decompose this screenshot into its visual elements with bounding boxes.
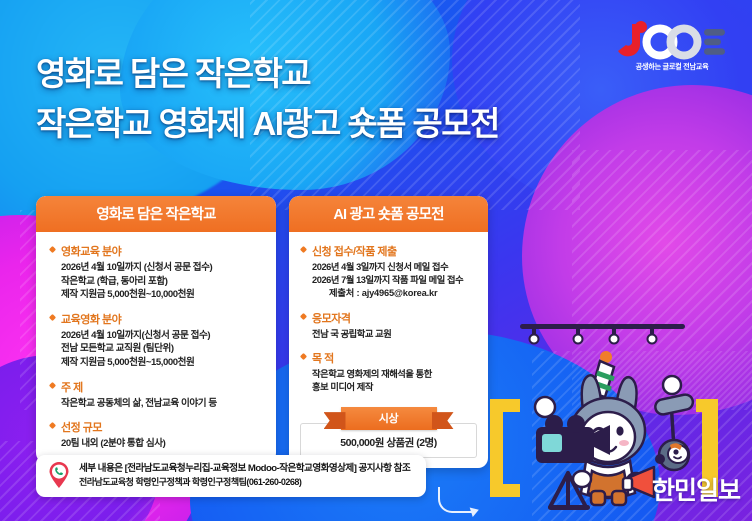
section-lines: 2026년 4월 3일까지 신청서 메일 접수 2026년 7월 13일까지 작…: [300, 261, 477, 301]
jne-logo-mark: [616, 20, 728, 60]
section-line: 작은학교 영화제의 재해석을 통한: [312, 368, 477, 381]
section-lines: 2026년 4월 10일까지(신청서 공문 접수) 전남 모든학교 교직원 (팀…: [49, 329, 263, 370]
section-line: 작은학교 공동체의 삶, 전남교육 이야기 등: [61, 397, 263, 411]
poster-title-block: 영화로 담은 작은학교 작은학교 영화제 AI광고 숏폼 공모전: [36, 56, 499, 143]
section-line: 작은학교 (학급, 동아리 포함): [61, 275, 263, 289]
section-title: 목 적: [300, 350, 477, 366]
section-application-submission: 신청 접수/작품 제출 2026년 4월 3일까지 신청서 메일 접수 2026…: [300, 243, 477, 301]
section-line: 2026년 4월 10일까지(신청서 공문 접수): [61, 329, 263, 343]
poster-canvas: 공생하는 글로컬 전남교육 영화로 담은 작은학교 작은학교 영화제 AI광고 …: [0, 0, 752, 521]
section-line: 2026년 4월 10일까지 (신청서 공문 접수): [61, 261, 263, 275]
lighting-truss-icon: [520, 324, 685, 344]
section-title: 교육영화 분야: [49, 311, 263, 327]
section-line: 2026년 7월 13일까지 작품 파일 메일 접수: [312, 274, 477, 287]
card-left-body: 영화교육 분야 2026년 4월 10일까지 (신청서 공문 접수) 작은학교 …: [36, 232, 276, 463]
section-lines: 작은학교 영화제의 재해석을 통한 홍보 미디어 제작: [300, 368, 477, 394]
footer-line1: 세부 내용은 [전라남도교육청누리집-교육정보 Modoo-작은학교영화영상제]…: [79, 462, 410, 476]
footer-pointer-arrow: [438, 487, 474, 513]
section-title: 주 제: [49, 379, 263, 395]
poster-title-line2: 작은학교 영화제 AI광고 숏폼 공모전: [36, 106, 499, 143]
section-title: 영화교육 분야: [49, 243, 263, 259]
submission-email-line: 제출처 : ajy4965@korea.kr: [312, 287, 477, 300]
boom-mic-robot-icon: [654, 376, 694, 470]
footer-notice: 세부 내용은 [전라남도교육청누리집-교육정보 Modoo-작은학교영화영상제]…: [36, 455, 426, 497]
footer-line2: 전라남도교육청 학령인구정책과 학령인구정책팀(061-260-0268): [79, 476, 410, 489]
footer-text-block: 세부 내용은 [전라남도교육청누리집-교육정보 Modoo-작은학교영화영상제]…: [79, 462, 410, 489]
award-ribbon-label: 시상: [341, 407, 437, 430]
section-topic: 주 제 작은학교 공동체의 삶, 전남교육 이야기 등: [49, 379, 263, 411]
section-line: 2026년 4월 3일까지 신청서 메일 접수: [312, 261, 477, 274]
card-left-heading: 영화로 담은 작은학교: [36, 196, 276, 232]
section-lines: 2026년 4월 10일까지 (신청서 공문 접수) 작은학교 (학급, 동아리…: [49, 261, 263, 302]
section-title: 응모자격: [300, 310, 477, 326]
section-lines: 20팀 내외 (2분야 통합 심사): [49, 437, 263, 451]
award-block: 시상 500,000원 상품권 (2명): [300, 403, 477, 458]
jne-logo-tagline: 공생하는 글로컬 전남교육: [610, 62, 734, 72]
info-cards: 영화로 담은 작은학교 영화교육 분야 2026년 4월 10일까지 (신청서 …: [36, 196, 488, 468]
section-line: 제작 지원금 5,000천원~15,000천원: [61, 356, 263, 370]
section-purpose: 목 적 작은학교 영화제의 재해석을 통한 홍보 미디어 제작: [300, 350, 477, 394]
section-eligibility: 응모자격 전남 국 공립학교 교원: [300, 310, 477, 341]
studio-light-icon: [535, 397, 555, 417]
section-title: 신청 접수/작품 제출: [300, 243, 477, 259]
section-selection-scale: 선정 규모 20팀 내외 (2분야 통합 심사): [49, 419, 263, 451]
location-pin-icon: [48, 462, 70, 489]
card-film-education: 영화로 담은 작은학교 영화교육 분야 2026년 4월 10일까지 (신청서 …: [36, 196, 276, 463]
section-title: 선정 규모: [49, 419, 263, 435]
card-right-heading: AI 광고 숏폼 공모전: [289, 196, 488, 232]
section-line: 20팀 내외 (2분야 통합 심사): [61, 437, 263, 451]
card-right-body: 신청 접수/작품 제출 2026년 4월 3일까지 신청서 메일 접수 2026…: [289, 232, 488, 468]
watermark-text: 한민일보: [652, 471, 740, 507]
section-education-film-field: 교육영화 분야 2026년 4월 10일까지(신청서 공문 접수) 전남 모든학…: [49, 311, 263, 370]
jne-logo: 공생하는 글로컬 전남교육: [610, 20, 734, 72]
section-line: 전남 모든학교 교직원 (팀단위): [61, 342, 263, 356]
section-lines: 작은학교 공동체의 삶, 전남교육 이야기 등: [49, 397, 263, 411]
section-line: 전남 국 공립학교 교원: [312, 328, 477, 341]
card-ai-shortform: AI 광고 숏폼 공모전 신청 접수/작품 제출 2026년 4월 3일까지 신…: [289, 196, 488, 468]
section-line: 제작 지원금 5,000천원~10,000천원: [61, 288, 263, 302]
section-line: 홍보 미디어 제작: [312, 381, 477, 394]
section-lines: 전남 국 공립학교 교원: [300, 328, 477, 341]
section-film-education-field: 영화교육 분야 2026년 4월 10일까지 (신청서 공문 접수) 작은학교 …: [49, 243, 263, 302]
poster-title-line1: 영화로 담은 작은학교: [36, 56, 499, 93]
